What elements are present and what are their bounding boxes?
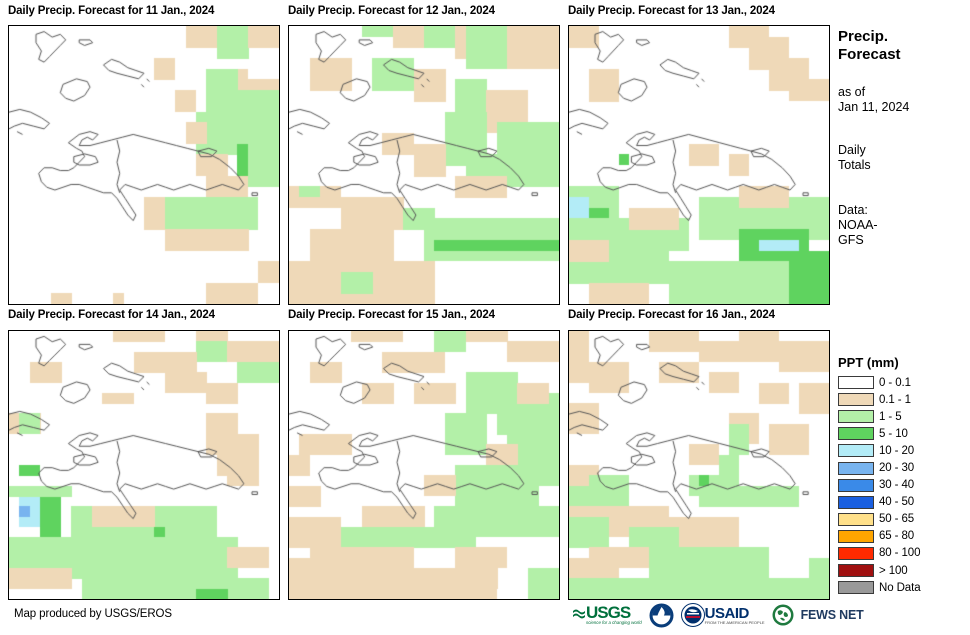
legend-row: 65 - 80	[838, 528, 970, 545]
legend-label: 0.1 - 1	[879, 394, 911, 406]
sidebar-title-line1: Precip.	[838, 28, 970, 46]
legend-row: 40 - 50	[838, 494, 970, 511]
legend-swatch	[838, 393, 874, 406]
legend-label: 80 - 100	[879, 547, 920, 559]
legend-row: 5 - 10	[838, 425, 970, 442]
usaid-logo: USAID FROM THE AMERICAN PEOPLE	[681, 602, 765, 628]
precip-raster-3	[569, 26, 829, 304]
panel-title-4: Daily Precip. Forecast for 14 Jan., 2024	[8, 310, 215, 322]
sidebar-data-line3: GFS	[838, 233, 970, 248]
legend: PPT (mm) 0 - 0.10.1 - 11 - 55 - 1010 - 2…	[838, 355, 970, 596]
sidebar: Precip. Forecast as of Jan 11, 2024 Dail…	[838, 28, 970, 248]
legend-row: No Data	[838, 579, 970, 596]
legend-row: 0.1 - 1	[838, 391, 970, 408]
usgs-wave-icon	[572, 607, 586, 623]
precip-raster-1	[9, 26, 279, 304]
map-credit: Map produced by USGS/EROS	[14, 608, 172, 620]
legend-label: 0 - 0.1	[879, 377, 911, 389]
legend-swatch	[838, 444, 874, 457]
map-frame-6[interactable]	[568, 330, 830, 600]
sidebar-data-line2: NOAA-	[838, 218, 970, 233]
legend-row: 80 - 100	[838, 545, 970, 562]
legend-row: 50 - 65	[838, 511, 970, 528]
panel-title-2: Daily Precip. Forecast for 12 Jan., 2024	[288, 6, 495, 18]
legend-row: 30 - 40	[838, 477, 970, 494]
precip-raster-6	[569, 331, 829, 599]
legend-swatch	[838, 427, 874, 440]
fews-net-logo-text: FEWS NET	[801, 608, 864, 622]
legend-label: 30 - 40	[879, 479, 914, 491]
map-frame-3[interactable]	[568, 25, 830, 305]
legend-label: 20 - 30	[879, 462, 914, 474]
precip-raster-2	[289, 26, 559, 304]
legend-row: > 100	[838, 562, 970, 579]
legend-label: > 100	[879, 565, 908, 577]
legend-swatch	[838, 462, 874, 475]
precip-raster-4	[9, 331, 279, 599]
legend-swatch	[838, 530, 874, 543]
legend-label: 1 - 5	[879, 411, 902, 423]
legend-row: 10 - 20	[838, 442, 970, 459]
panel-title-3: Daily Precip. Forecast for 13 Jan., 2024	[568, 6, 775, 18]
legend-title: PPT (mm)	[838, 355, 970, 370]
usgs-logo: USGS science for a changing world	[572, 602, 642, 628]
sidebar-totals-line2: Totals	[838, 158, 970, 173]
fews-globe-icon	[772, 604, 794, 626]
fews-net-logo: FEWS NET	[772, 602, 864, 628]
usgs-logo-tagline: science for a changing world	[586, 621, 642, 625]
legend-label: 50 - 65	[879, 513, 914, 525]
noaa-logo	[649, 602, 674, 628]
legend-row: 0 - 0.1	[838, 374, 970, 391]
legend-row: 1 - 5	[838, 408, 970, 425]
map-frame-2[interactable]	[288, 25, 560, 305]
legend-swatch	[838, 479, 874, 492]
legend-swatch	[838, 410, 874, 423]
sidebar-title-line2: Forecast	[838, 46, 970, 64]
panel-title-1: Daily Precip. Forecast for 11 Jan., 2024	[8, 6, 214, 18]
legend-swatch	[838, 513, 874, 526]
noaa-seal-icon	[649, 603, 674, 628]
legend-label: 10 - 20	[879, 445, 914, 457]
sidebar-data-line1: Data:	[838, 203, 970, 218]
legend-swatch	[838, 547, 874, 560]
legend-rows: 0 - 0.10.1 - 11 - 55 - 1010 - 2020 - 303…	[838, 374, 970, 596]
sidebar-asof-line2: Jan 11, 2024	[838, 100, 970, 115]
panel-title-5: Daily Precip. Forecast for 15 Jan., 2024	[288, 310, 495, 322]
usgs-logo-text: USGS	[586, 604, 642, 621]
precip-raster-5	[289, 331, 559, 599]
legend-label: No Data	[879, 582, 921, 594]
logo-bar: USGS science for a changing world USAID …	[572, 600, 864, 630]
legend-label: 65 - 80	[879, 530, 914, 542]
legend-swatch	[838, 564, 874, 577]
legend-swatch	[838, 376, 874, 389]
usaid-logo-tagline: FROM THE AMERICAN PEOPLE	[705, 621, 765, 625]
panel-title-6: Daily Precip. Forecast for 16 Jan., 2024	[568, 310, 775, 322]
usaid-logo-text: USAID	[705, 606, 765, 621]
sidebar-totals-line1: Daily	[838, 143, 970, 158]
legend-row: 20 - 30	[838, 459, 970, 476]
legend-swatch	[838, 581, 874, 594]
usaid-seal-icon	[681, 603, 705, 627]
sidebar-asof-line1: as of	[838, 85, 970, 100]
map-frame-5[interactable]	[288, 330, 560, 600]
legend-swatch	[838, 496, 874, 509]
map-frame-1[interactable]	[8, 25, 280, 305]
legend-label: 40 - 50	[879, 496, 914, 508]
map-frame-4[interactable]	[8, 330, 280, 600]
legend-label: 5 - 10	[879, 428, 908, 440]
